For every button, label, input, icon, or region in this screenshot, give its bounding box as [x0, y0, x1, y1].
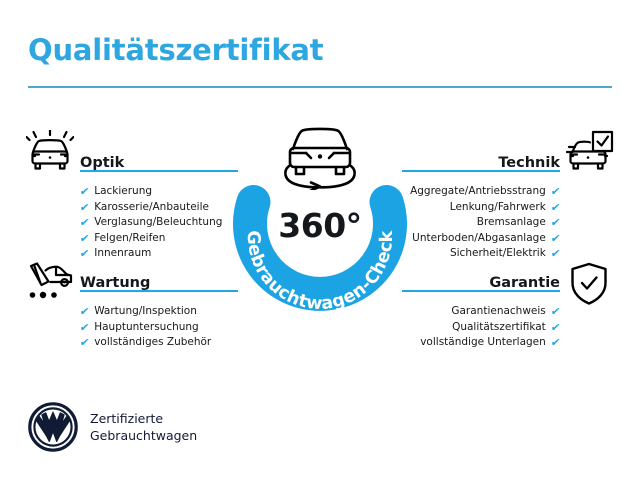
check-icon: ✔	[550, 246, 561, 262]
list-item: Sicherheit/Elektrik ✔	[402, 246, 560, 262]
section-technik: Technik Aggregate/Antriebsstrang ✔ Lenku…	[402, 148, 618, 262]
section-garantie-title: Garantie	[489, 275, 560, 291]
car-rotate-icon	[275, 122, 365, 194]
section-wartung-divider	[80, 290, 238, 292]
section-garantie-divider	[402, 290, 560, 292]
list-item-label: vollständige Unterlagen	[420, 335, 546, 351]
list-item: ✔ Felgen/Reifen	[80, 231, 238, 247]
check-icon: ✔	[79, 215, 90, 231]
section-optik-list: ✔ Lackierung ✔ Karosserie/Anbauteile ✔ V…	[80, 184, 238, 262]
section-optik-header: Optik	[80, 148, 238, 174]
check-icon: ✔	[550, 200, 561, 216]
section-garantie-header: Garantie	[402, 268, 560, 294]
section-optik-divider	[80, 170, 238, 172]
list-item-label: Innenraum	[94, 246, 151, 262]
list-item-label: Hauptuntersuchung	[94, 320, 199, 336]
list-item-label: Felgen/Reifen	[94, 231, 165, 247]
list-item: Unterboden/Abgasanlage ✔	[402, 231, 560, 247]
check-icon: ✔	[79, 335, 90, 351]
page-title: Qualitätszertifikat	[28, 33, 323, 67]
list-item: Garantienachweis ✔	[402, 304, 560, 320]
list-item-label: Qualitätszertifikat	[452, 320, 546, 336]
badge-360-gebrauchtwagen-check: Gebrauchtwagen-Check 360°	[222, 120, 418, 316]
check-icon: ✔	[79, 304, 90, 320]
section-technik-header: Technik	[402, 148, 560, 174]
list-item-label: Lenkung/Fahrwerk	[450, 200, 546, 216]
list-item: ✔ vollständiges Zubehör	[80, 335, 238, 351]
vw-logo	[28, 402, 78, 452]
list-item: Qualitätszertifikat ✔	[402, 320, 560, 336]
check-icon: ✔	[79, 320, 90, 336]
list-item: vollständige Unterlagen ✔	[402, 335, 560, 351]
header-divider	[28, 86, 612, 88]
check-icon: ✔	[550, 215, 561, 231]
list-item: Aggregate/Antriebsstrang ✔	[402, 184, 560, 200]
check-icon: ✔	[550, 335, 561, 351]
section-wartung-title: Wartung	[80, 275, 150, 291]
check-icon: ✔	[79, 200, 90, 216]
certificate-page: Qualitätszertifikat Optik ✔	[0, 0, 640, 480]
section-optik: Optik ✔ Lackierung ✔ Karosserie/Anbautei…	[22, 148, 238, 262]
list-item: ✔ Verglasung/Beleuchtung	[80, 215, 238, 231]
section-technik-divider	[402, 170, 560, 172]
list-item: ✔ Innenraum	[80, 246, 238, 262]
list-item-label: Aggregate/Antriebsstrang	[410, 184, 546, 200]
vw-footer-logo-block: Zertifizierte Gebrauchtwagen	[28, 402, 197, 452]
check-icon: ✔	[79, 246, 90, 262]
footer-text: Zertifizierte Gebrauchtwagen	[90, 410, 197, 444]
list-item-label: Garantienachweis	[451, 304, 545, 320]
footer-line-1: Zertifizierte	[90, 410, 197, 427]
check-icon: ✔	[79, 231, 90, 247]
section-technik-title: Technik	[498, 155, 560, 171]
list-item-label: Wartung/Inspektion	[94, 304, 197, 320]
list-item: Bremsanlage ✔	[402, 215, 560, 231]
badge-center-label: 360°	[222, 206, 418, 245]
section-wartung-list: ✔ Wartung/Inspektion ✔ Hauptuntersuchung…	[80, 304, 238, 351]
list-item: ✔ Wartung/Inspektion	[80, 304, 238, 320]
section-garantie: Garantie Garantienachweis ✔ Qualitätszer…	[402, 268, 618, 351]
check-icon: ✔	[79, 184, 90, 200]
list-item: ✔ Lackierung	[80, 184, 238, 200]
section-garantie-list: Garantienachweis ✔ Qualitätszertifikat ✔…	[402, 304, 560, 351]
check-icon: ✔	[550, 231, 561, 247]
section-technik-list: Aggregate/Antriebsstrang ✔ Lenkung/Fahrw…	[402, 184, 560, 262]
list-item-label: Bremsanlage	[477, 215, 546, 231]
list-item-label: vollständiges Zubehör	[94, 335, 211, 351]
list-item-label: Karosserie/Anbauteile	[94, 200, 209, 216]
list-item-label: Sicherheit/Elektrik	[450, 246, 546, 262]
section-optik-title: Optik	[80, 155, 124, 171]
list-item-label: Unterboden/Abgasanlage	[412, 231, 546, 247]
footer-line-2: Gebrauchtwagen	[90, 427, 197, 444]
list-item: ✔ Hauptuntersuchung	[80, 320, 238, 336]
list-item-label: Verglasung/Beleuchtung	[94, 215, 222, 231]
section-wartung-header: Wartung	[80, 268, 238, 294]
list-item-label: Lackierung	[94, 184, 152, 200]
check-icon: ✔	[550, 304, 561, 320]
check-icon: ✔	[550, 184, 561, 200]
section-wartung: Wartung ✔ Wartung/Inspektion ✔ Hauptunte…	[22, 268, 238, 351]
check-icon: ✔	[550, 320, 561, 336]
list-item: Lenkung/Fahrwerk ✔	[402, 200, 560, 216]
list-item: ✔ Karosserie/Anbauteile	[80, 200, 238, 216]
